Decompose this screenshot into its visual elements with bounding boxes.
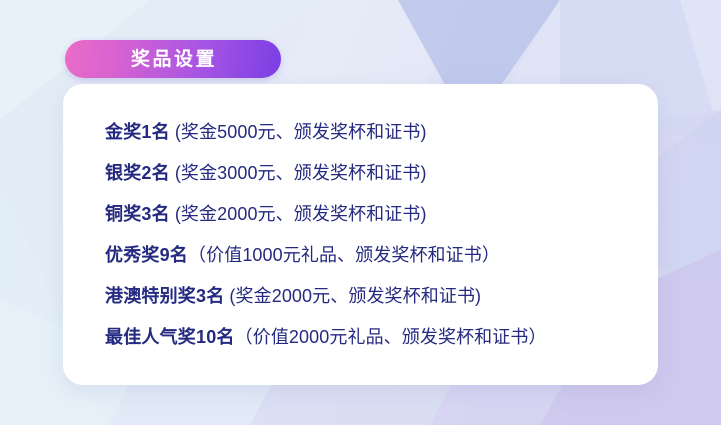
prize-detail: （价值2000元礼品、颁发奖杯和证书）	[235, 317, 547, 358]
section-title-badge: 奖品设置	[65, 40, 281, 78]
prize-detail: (奖金5000元、颁发奖杯和证书)	[170, 112, 427, 153]
prize-detail: （价值1000元礼品、颁发奖杯和证书）	[188, 235, 500, 276]
prize-name: 金奖1名	[105, 112, 170, 153]
prize-settings-banner: 奖品设置 金奖1名 (奖金5000元、颁发奖杯和证书) 银奖2名 (奖金3000…	[0, 0, 721, 425]
prize-item: 最佳人气奖10名 （价值2000元礼品、颁发奖杯和证书）	[105, 317, 640, 358]
section-title-label: 奖品设置	[129, 50, 217, 69]
prize-list: 金奖1名 (奖金5000元、颁发奖杯和证书) 银奖2名 (奖金3000元、颁发奖…	[105, 112, 640, 358]
prize-item: 港澳特别奖3名 (奖金2000元、颁发奖杯和证书)	[105, 276, 640, 317]
prize-detail: (奖金2000元、颁发奖杯和证书)	[170, 194, 427, 235]
prize-item: 优秀奖9名 （价值1000元礼品、颁发奖杯和证书）	[105, 235, 640, 276]
prize-detail: (奖金3000元、颁发奖杯和证书)	[170, 153, 427, 194]
prize-name: 港澳特别奖3名	[105, 276, 224, 317]
prize-item: 银奖2名 (奖金3000元、颁发奖杯和证书)	[105, 153, 640, 194]
prize-name: 银奖2名	[105, 153, 170, 194]
prize-detail: (奖金2000元、颁发奖杯和证书)	[224, 276, 481, 317]
prize-name: 铜奖3名	[105, 194, 170, 235]
prize-name: 最佳人气奖10名	[105, 317, 235, 358]
prize-card: 金奖1名 (奖金5000元、颁发奖杯和证书) 银奖2名 (奖金3000元、颁发奖…	[63, 84, 658, 385]
prize-item: 金奖1名 (奖金5000元、颁发奖杯和证书)	[105, 112, 640, 153]
prize-name: 优秀奖9名	[105, 235, 188, 276]
prize-item: 铜奖3名 (奖金2000元、颁发奖杯和证书)	[105, 194, 640, 235]
